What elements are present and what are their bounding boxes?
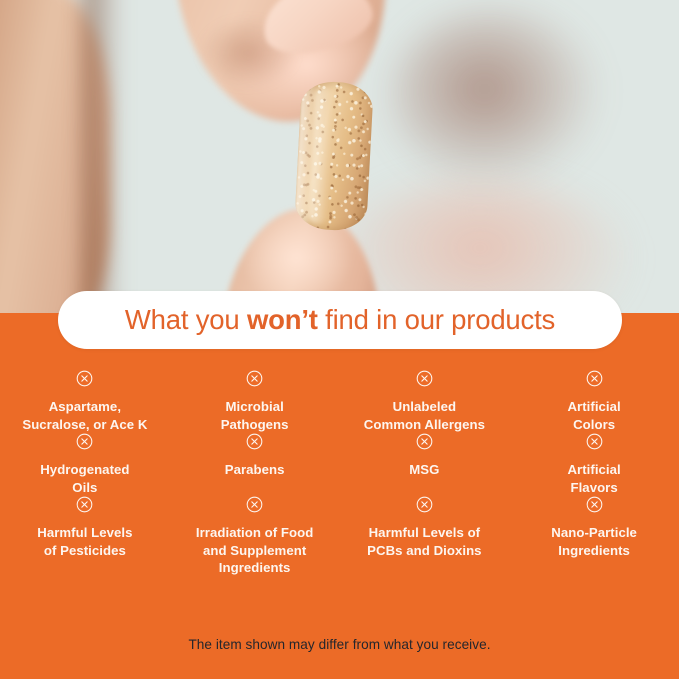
exclusion-item: MSG [340,433,510,496]
exclusion-item: Artificial Flavors [509,433,679,496]
exclusion-label: Harmful Levels of Pesticides [37,524,132,559]
exclusion-label: MSG [409,461,439,479]
exclusion-label: Irradiation of Food and Supplement Ingre… [196,524,313,577]
exclusion-item: Irradiation of Food and Supplement Ingre… [170,496,340,577]
circle-x-icon [76,370,93,387]
circle-x-icon [246,370,263,387]
title-prefix: What you [125,304,247,335]
exclusion-item: Harmful Levels of PCBs and Dioxins [340,496,510,577]
circle-x-icon [416,496,433,513]
exclusion-label: Unlabeled Common Allergens [364,398,485,433]
circle-x-icon [76,433,93,450]
exclusion-label: Aspartame, Sucralose, or Ace K [22,398,147,433]
circle-x-icon [586,433,603,450]
supplement-tablet [294,80,374,232]
circle-x-icon [76,496,93,513]
exclusion-item: Aspartame, Sucralose, or Ace K [0,370,170,433]
exclusion-label: Hydrogenated Oils [40,461,129,496]
exclusion-item: Unlabeled Common Allergens [340,370,510,433]
exclusion-label: Parabens [225,461,285,479]
exclusion-item: Artificial Colors [509,370,679,433]
circle-x-icon [416,370,433,387]
page-title: What you won’t find in our products [125,304,555,336]
exclusion-item: Parabens [170,433,340,496]
circle-x-icon [586,370,603,387]
exclusion-item: Microbial Pathogens [170,370,340,433]
exclusion-item: Harmful Levels of Pesticides [0,496,170,577]
product-infographic: What you won’t find in our products Aspa… [0,0,679,679]
exclusion-label: Artificial Flavors [567,461,620,496]
exclusion-label: Harmful Levels of PCBs and Dioxins [367,524,481,559]
exclusions-grid: Aspartame, Sucralose, or Ace K Microbial… [0,370,679,577]
exclusion-item: Hydrogenated Oils [0,433,170,496]
exclusion-item: Nano-Particle Ingredients [509,496,679,577]
exclusion-label: Artificial Colors [567,398,620,433]
disclaimer-text: The item shown may differ from what you … [0,637,679,652]
circle-x-icon [246,496,263,513]
title-emphasis: won’t [247,304,318,335]
title-suffix: find in our products [318,304,555,335]
circle-x-icon [586,496,603,513]
hero-photo [0,0,679,314]
circle-x-icon [416,433,433,450]
exclusion-label: Nano-Particle Ingredients [551,524,637,559]
background-blob-upper-right [390,8,600,188]
exclusion-label: Microbial Pathogens [221,398,289,433]
circle-x-icon [246,433,263,450]
banner-title-pill: What you won’t find in our products [58,291,622,349]
left-finger-shadow [82,0,124,314]
